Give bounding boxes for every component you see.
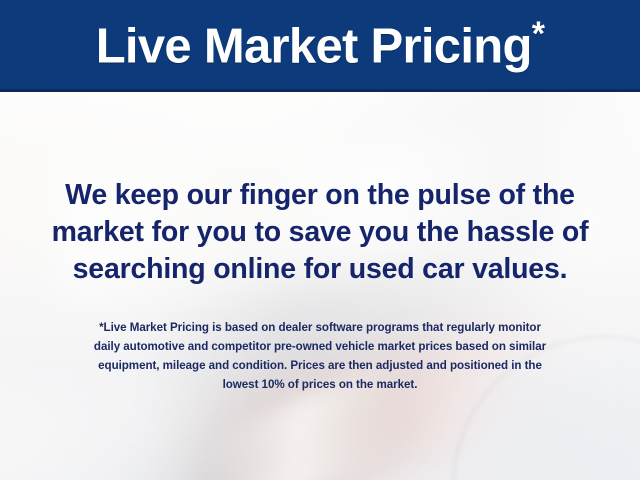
disclaimer-line: *Live Market Pricing is based on dealer … (30, 318, 610, 337)
page-title-text: Live Market Pricing (96, 20, 532, 74)
page-title: Live Market Pricing* (96, 17, 545, 71)
headline-line: searching online for used car values. (22, 251, 618, 288)
banner-content: We keep our finger on the pulse of the m… (0, 92, 640, 480)
headline-line: We keep our finger on the pulse of the (22, 177, 618, 214)
disclaimer-line: daily automotive and competitor pre-owne… (30, 337, 610, 356)
disclaimer-line: lowest 10% of prices on the market. (30, 375, 610, 394)
headline: We keep our finger on the pulse of the m… (0, 177, 640, 288)
live-market-pricing-banner: Live Market Pricing* We keep our finger … (0, 0, 640, 480)
headline-line: market for you to save you the hassle of (22, 214, 618, 251)
page-title-asterisk: * (532, 15, 545, 53)
disclaimer-line: equipment, mileage and condition. Prices… (30, 356, 610, 375)
title-bar: Live Market Pricing* (0, 0, 640, 92)
disclaimer: *Live Market Pricing is based on dealer … (30, 318, 610, 394)
